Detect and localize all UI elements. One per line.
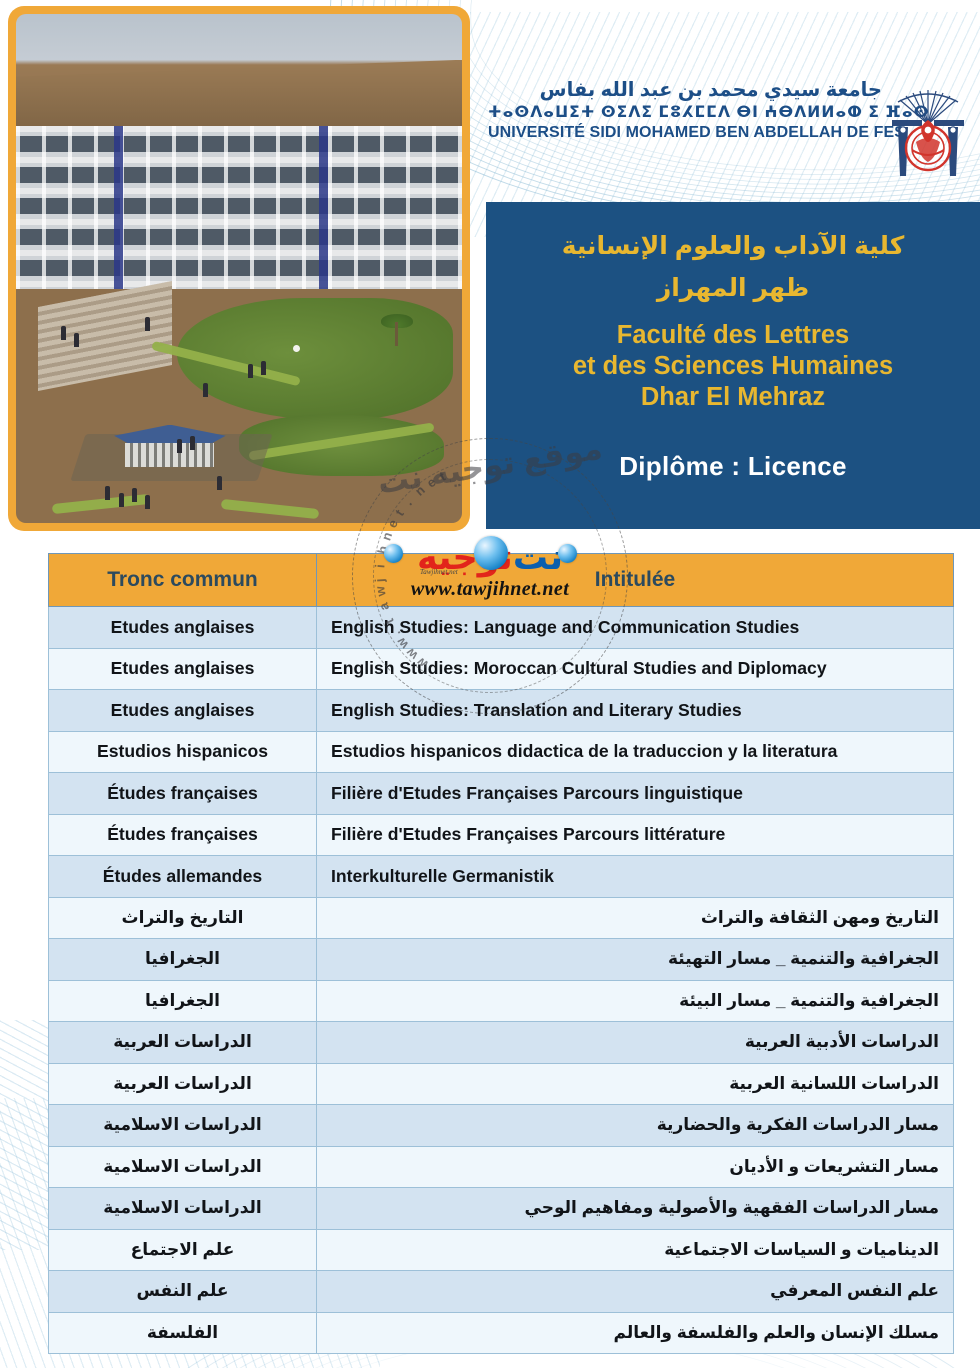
cell-tronc-commun: Études françaises <box>49 773 317 815</box>
pavilion-roof <box>114 425 226 445</box>
person <box>248 364 253 378</box>
cell-tronc-commun: الجغرافيا <box>49 980 317 1022</box>
building-pillar <box>319 126 328 289</box>
person <box>261 361 266 375</box>
cell-tronc-commun: الفلسفة <box>49 1312 317 1354</box>
faculty-title-french-line2: et des Sciences Humaines <box>508 351 958 382</box>
cell-tronc-commun: علم الاجتماع <box>49 1229 317 1271</box>
person <box>203 383 208 397</box>
cell-intitulee: Interkulturelle Germanistik <box>317 856 954 898</box>
programs-table: Tronc commun Intitulée Etudes anglaisesE… <box>48 553 954 1354</box>
university-header: جامعة سيدي محمد بن عبد الله بفاس ⵜⴰⵙⴷⴰⵡⵉ… <box>488 78 968 188</box>
cell-tronc-commun: الدراسات الاسلامية <box>49 1146 317 1188</box>
cell-tronc-commun: الدراسات الاسلامية <box>49 1188 317 1230</box>
cell-intitulee: الدراسات الأدبية العربية <box>317 1022 954 1064</box>
university-name-tifinagh: ⵜⴰⵙⴷⴰⵡⵉⵜ ⵙⵉⴷⵉ ⵎⵓⵃⵎⵎⴷ ⴱⵏ ⵄⴱⴷⵍⵍⴰⵀ ⵉ ⴼⴰⵙ <box>488 103 882 123</box>
table-row: علم النفسعلم النفس المعرفي <box>49 1271 954 1313</box>
person <box>119 493 124 507</box>
table-row: الفلسفةمسلك الإنسان والعلم والفلسفة والع… <box>49 1312 954 1354</box>
cell-intitulee: مسار الدراسات الفقهية والأصولية ومفاهيم … <box>317 1188 954 1230</box>
courtyard-pavilion <box>114 425 226 467</box>
cell-intitulee: Filière d'Etudes Françaises Parcours lit… <box>317 814 954 856</box>
cell-intitulee: مسار التشريعات و الأديان <box>317 1146 954 1188</box>
cell-intitulee: علم النفس المعرفي <box>317 1271 954 1313</box>
table-row: علم الاجتماعالديناميات و السياسات الاجتم… <box>49 1229 954 1271</box>
table-header-row: Tronc commun Intitulée <box>49 554 954 607</box>
university-name-french: UNIVERSITÉ SIDI MOHAMED BEN ABDELLAH DE … <box>488 123 882 144</box>
table-row: الدراسات العربيةالدراسات اللسانية العربي… <box>49 1063 954 1105</box>
cell-intitulee: التاريخ ومهن الثقافة والتراث <box>317 897 954 939</box>
cell-tronc-commun: الدراسات العربية <box>49 1063 317 1105</box>
table-row: Estudios hispanicosEstudios hispanicos d… <box>49 731 954 773</box>
person <box>145 317 150 331</box>
cell-intitulee: Estudios hispanicos didactica de la trad… <box>317 731 954 773</box>
table-row: الدراسات العربيةالدراسات الأدبية العربية <box>49 1022 954 1064</box>
column-header-tronc-commun: Tronc commun <box>49 554 317 607</box>
table-row: Etudes anglaisesEnglish Studies: Morocca… <box>49 648 954 690</box>
cell-tronc-commun: Estudios hispanicos <box>49 731 317 773</box>
cell-intitulee: Filière d'Etudes Françaises Parcours lin… <box>317 773 954 815</box>
university-name-arabic: جامعة سيدي محمد بن عبد الله بفاس <box>488 78 882 103</box>
university-name-block: جامعة سيدي محمد بن عبد الله بفاس ⵜⴰⵙⴷⴰⵡⵉ… <box>488 78 882 144</box>
cell-tronc-commun: الجغرافيا <box>49 939 317 981</box>
cell-intitulee: English Studies: Language and Communicat… <box>317 607 954 649</box>
usmba-logo-icon <box>886 80 970 186</box>
cell-tronc-commun: Études allemandes <box>49 856 317 898</box>
table-row: التاريخ والتراثالتاريخ ومهن الثقافة والت… <box>49 897 954 939</box>
cell-tronc-commun: الدراسات الاسلامية <box>49 1105 317 1147</box>
table-row: الدراسات الاسلاميةمسار التشريعات و الأدي… <box>49 1146 954 1188</box>
table-row: Etudes anglaisesEnglish Studies: Languag… <box>49 607 954 649</box>
faculty-title-arabic-line2: ظهر المهراز <box>508 268 958 308</box>
faculty-title-french-line3: Dhar El Mehraz <box>508 382 958 413</box>
cell-tronc-commun: Etudes anglaises <box>49 690 317 732</box>
cell-tronc-commun: التاريخ والتراث <box>49 897 317 939</box>
person <box>105 486 110 500</box>
cell-intitulee: الجغرافية والتنمية _ مسار التهيئة <box>317 939 954 981</box>
cell-tronc-commun: علم النفس <box>49 1271 317 1313</box>
table-row: الدراسات الاسلاميةمسار الدراسات الفكرية … <box>49 1105 954 1147</box>
building-pillar <box>114 126 123 289</box>
cell-intitulee: English Studies: Translation and Literar… <box>317 690 954 732</box>
cell-intitulee: الدراسات اللسانية العربية <box>317 1063 954 1105</box>
diploma-label: Diplôme : Licence <box>508 451 958 482</box>
lamp-globe <box>293 345 300 352</box>
courtyard-steps <box>38 281 172 391</box>
building-facade <box>16 126 462 289</box>
faculty-title-arabic-line1: كلية الآداب والعلوم الإنسانية <box>508 228 958 266</box>
person <box>132 488 137 502</box>
palm-tree <box>377 308 417 348</box>
cell-intitulee: الديناميات و السياسات الاجتماعية <box>317 1229 954 1271</box>
faculty-title-panel: كلية الآداب والعلوم الإنسانية ظهر المهرا… <box>486 202 980 529</box>
campus-photo <box>16 14 462 523</box>
faculty-title-french-line1: Faculté des Lettres <box>508 320 958 351</box>
table-row: الجغرافياالجغرافية والتنمية _ مسار التهي… <box>49 939 954 981</box>
person <box>177 439 182 453</box>
table-row: Etudes anglaisesEnglish Studies: Transla… <box>49 690 954 732</box>
table-row: Études allemandesInterkulturelle Germani… <box>49 856 954 898</box>
table-row: Études françaisesFilière d'Etudes França… <box>49 814 954 856</box>
courtyard-ground <box>16 289 462 523</box>
campus-photo-frame <box>8 6 470 531</box>
table-row: الدراسات الاسلاميةمسار الدراسات الفقهية … <box>49 1188 954 1230</box>
cell-intitulee: English Studies: Moroccan Cultural Studi… <box>317 648 954 690</box>
pavilion-base <box>125 443 214 467</box>
cell-intitulee: مسلك الإنسان والعلم والفلسفة والعالم <box>317 1312 954 1354</box>
person <box>145 495 150 509</box>
cell-tronc-commun: Etudes anglaises <box>49 648 317 690</box>
cell-tronc-commun: الدراسات العربية <box>49 1022 317 1064</box>
person <box>190 436 195 450</box>
person <box>61 326 66 340</box>
person <box>217 476 222 490</box>
column-header-intitulee: Intitulée <box>317 554 954 607</box>
person <box>74 333 79 347</box>
cell-tronc-commun: Etudes anglaises <box>49 607 317 649</box>
building-roof <box>16 60 462 136</box>
cell-tronc-commun: Études françaises <box>49 814 317 856</box>
table-row: Études françaisesFilière d'Etudes França… <box>49 773 954 815</box>
table-row: الجغرافياالجغرافية والتنمية _ مسار البيئ… <box>49 980 954 1022</box>
cell-intitulee: مسار الدراسات الفكرية والحضارية <box>317 1105 954 1147</box>
hedge <box>221 499 320 519</box>
cell-intitulee: الجغرافية والتنمية _ مسار البيئة <box>317 980 954 1022</box>
